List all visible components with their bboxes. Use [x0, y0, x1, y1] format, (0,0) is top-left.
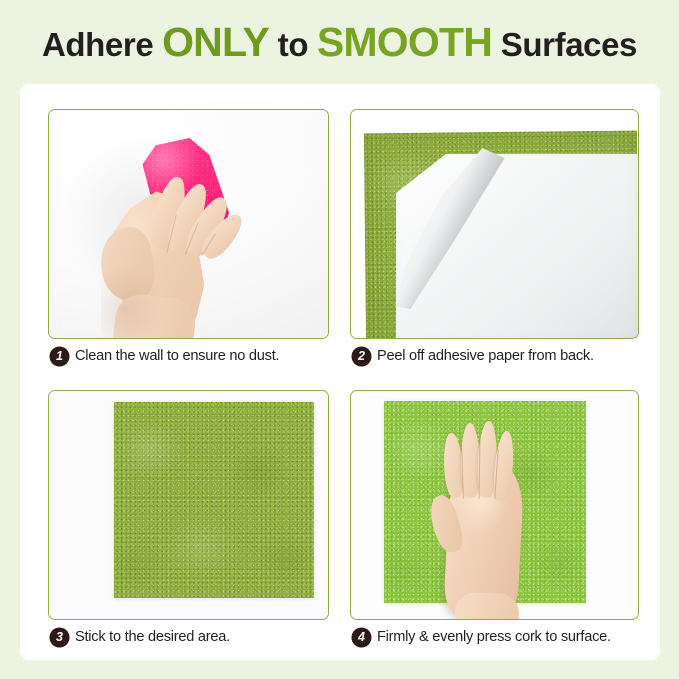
step-caption-text: Clean the wall to ensure no dust. [75, 348, 279, 364]
title-accent-smooth: SMOOTH [317, 19, 492, 65]
step-1-image-panel [48, 109, 329, 339]
instruction-graphic: Adhere ONLY to SMOOTH Surfaces [0, 0, 679, 679]
step-number-badge: 2 [352, 347, 371, 366]
cork-tile [114, 402, 314, 598]
step-3-image-panel [48, 390, 329, 620]
title-part-1: Adhere [42, 26, 162, 63]
step-caption-text: Stick to the desired area. [75, 629, 230, 645]
step-number-badge: 1 [50, 347, 69, 366]
step-4-image-panel [350, 390, 639, 620]
step-2-caption: 2 Peel off adhesive paper from back. [352, 345, 594, 367]
step-1-caption: 1 Clean the wall to ensure no dust. [50, 345, 279, 367]
page-title: Adhere ONLY to SMOOTH Surfaces [0, 22, 679, 63]
step-2-image-panel [350, 109, 639, 339]
title-accent-only: ONLY [162, 19, 269, 65]
step-4-caption: 4 Firmly & evenly press cork to surface. [352, 626, 611, 648]
step-3-caption: 3 Stick to the desired area. [50, 626, 230, 648]
step-caption-text: Peel off adhesive paper from back. [377, 348, 594, 364]
step-caption-text: Firmly & evenly press cork to surface. [377, 629, 611, 645]
step-number-badge: 3 [50, 628, 69, 647]
step-number-badge: 4 [352, 628, 371, 647]
title-part-3: Surfaces [492, 26, 637, 63]
cork-texture [114, 402, 314, 598]
title-part-2: to [269, 26, 317, 63]
hand-wrist [454, 592, 519, 620]
